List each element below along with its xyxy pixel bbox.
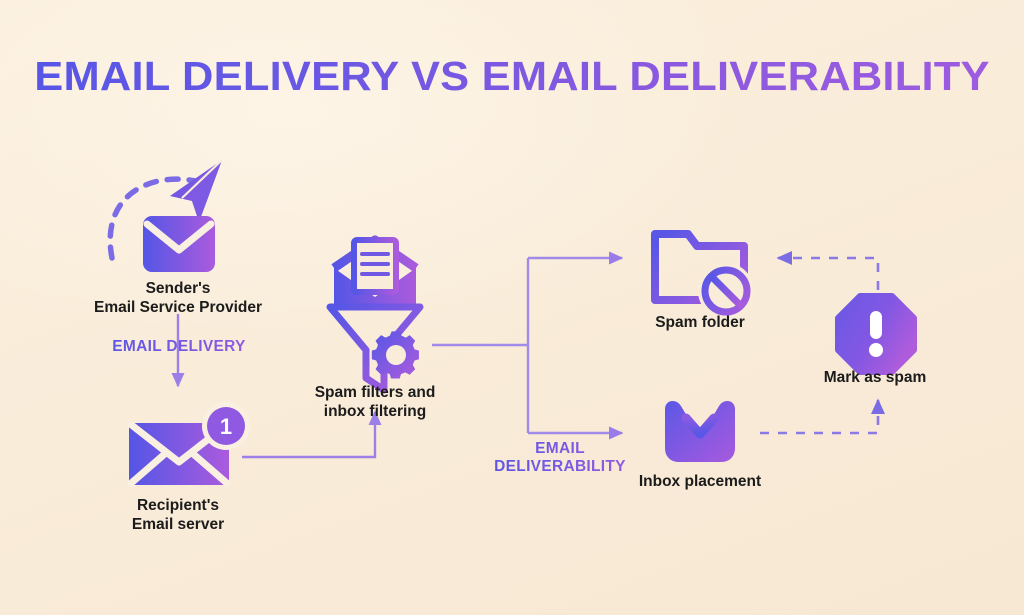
closed-envelope-icon: 1 — [129, 402, 250, 485]
folder-blocked-icon — [655, 234, 754, 319]
funnel-gear-icon — [330, 240, 420, 390]
infographic-canvas: EMAIL DELIVERY VS EMAIL DELIVERABILITY — [0, 0, 1024, 615]
recipient-label: Recipient's Email server — [88, 497, 268, 535]
mark-as-spam-label: Mark as spam — [795, 369, 955, 388]
spam-folder-label: Spam folder — [620, 314, 780, 333]
inbox-tray-icon — [665, 389, 735, 462]
svg-text:1: 1 — [220, 414, 232, 439]
envelope-icon — [143, 216, 215, 272]
spam-filter-label: Spam filters and inbox filtering — [285, 384, 465, 422]
octagon-alert-icon — [838, 296, 914, 372]
paper-plane-icon — [170, 160, 222, 222]
inbox-to-markspam-connector — [760, 400, 878, 433]
email-deliverability-label: EMAIL DELIVERABILITY — [470, 440, 650, 477]
markspam-to-spamfolder-connector — [778, 258, 878, 290]
sender-label: Sender's Email Service Provider — [58, 280, 298, 318]
email-delivery-label: EMAIL DELIVERY — [86, 338, 272, 356]
inbox-placement-label: Inbox placement — [610, 473, 790, 492]
